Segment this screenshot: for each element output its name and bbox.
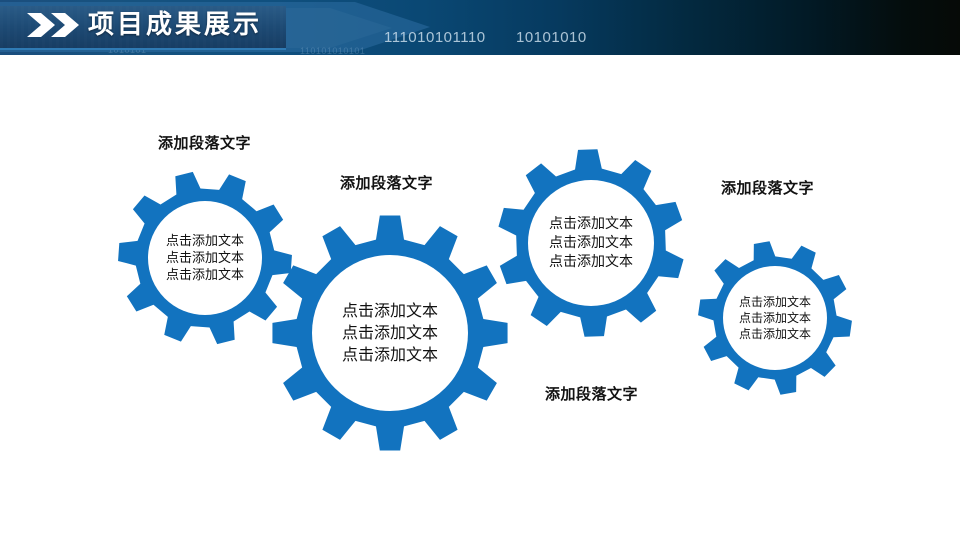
double-chevron-right-icon: [25, 11, 83, 39]
gear-1-shape: [116, 169, 294, 347]
gear-2[interactable]: 点击添加文本点击添加文本点击添加文本: [270, 213, 510, 453]
header-binary-faint-5: 110101010101: [300, 46, 365, 55]
gear-4-shape: [696, 239, 854, 397]
gear-4[interactable]: 点击添加文本点击添加文本点击添加文本: [696, 239, 854, 397]
presentation-slide: 10101010101 110101010 10101010101 101010…: [0, 0, 960, 540]
gear-4-caption: 添加段落文字: [721, 177, 814, 198]
header-binary-text-2: 10101010: [516, 29, 587, 46]
header-binary-text-1: 111010101110: [384, 29, 486, 46]
page-title: 项目成果展示: [88, 8, 262, 42]
gear-1-caption: 添加段落文字: [158, 132, 251, 153]
slide-header-band: 10101010101 110101010 10101010101 101010…: [0, 0, 960, 55]
gear-3-shape: [495, 147, 687, 339]
gear-3-caption: 添加段落文字: [545, 383, 638, 404]
gear-3[interactable]: 点击添加文本点击添加文本点击添加文本: [495, 147, 687, 339]
gear-2-shape: [270, 213, 510, 453]
gear-2-caption: 添加段落文字: [340, 172, 433, 193]
slide-footer-band: [0, 517, 960, 540]
gear-1[interactable]: 点击添加文本点击添加文本点击添加文本: [116, 169, 294, 347]
